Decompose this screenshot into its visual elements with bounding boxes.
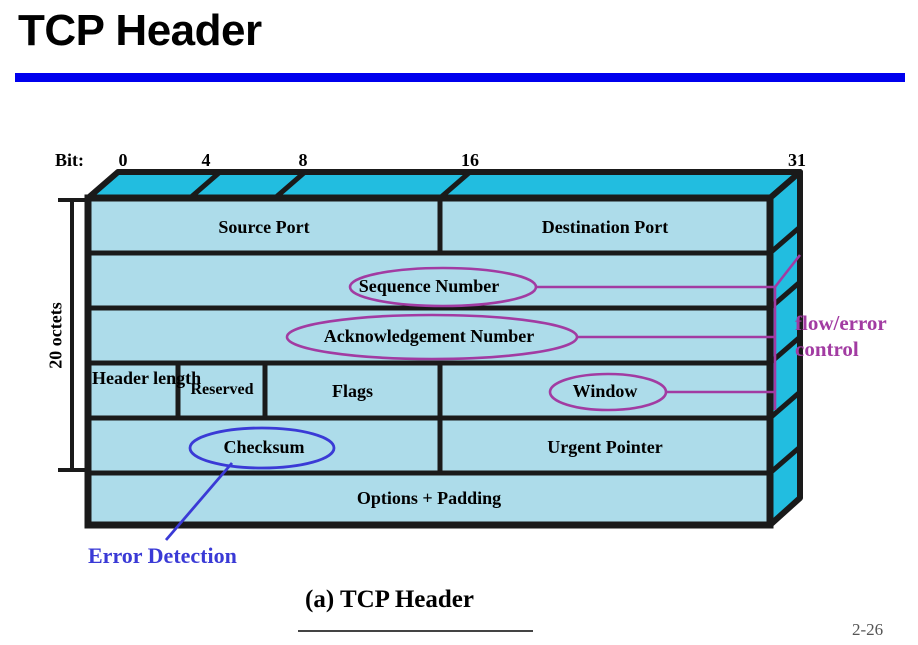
field-label-header-length: Header length <box>92 368 176 389</box>
field-label-urgent-pointer: Urgent Pointer <box>440 437 770 458</box>
error-detection-annotation: Error Detection <box>88 543 237 569</box>
tcp-header-diagram: Bit: 0 4 8 16 31 20 octets Source Port D… <box>0 0 918 645</box>
field-label-source-port: Source Port <box>88 217 440 238</box>
box-front-face <box>88 198 770 525</box>
flow-error-line-1: flow/error <box>795 310 887 336</box>
octets-bracket-label: 20 octets <box>46 276 67 396</box>
flow-error-control-annotation: flow/error control <box>795 310 887 362</box>
caption-underline-rule <box>298 630 533 632</box>
bit-tick-label-16: 16 <box>456 150 484 171</box>
bit-tick-label-31: 31 <box>783 150 811 171</box>
field-label-reserved: Reserved <box>180 381 264 399</box>
box-top-face <box>88 172 800 198</box>
bit-tick-label-4: 4 <box>195 150 217 171</box>
bit-tick-label-0: 0 <box>112 150 134 171</box>
field-label-sequence-number: Sequence Number <box>88 276 770 297</box>
figure-caption: (a) TCP Header <box>305 586 474 614</box>
bit-tick-label-8: 8 <box>292 150 314 171</box>
field-label-checksum: Checksum <box>88 437 440 458</box>
field-label-flags: Flags <box>265 381 440 402</box>
field-label-options-padding: Options + Padding <box>88 488 770 509</box>
bit-ruler-prefix: Bit: <box>55 150 84 171</box>
field-label-destination-port: Destination Port <box>440 217 770 238</box>
page-number: 2-26 <box>852 620 883 640</box>
field-label-acknowledgement-number: Acknowledgement Number <box>88 326 770 347</box>
flow-error-line-2: control <box>795 336 887 362</box>
field-label-window: Window <box>440 381 770 402</box>
